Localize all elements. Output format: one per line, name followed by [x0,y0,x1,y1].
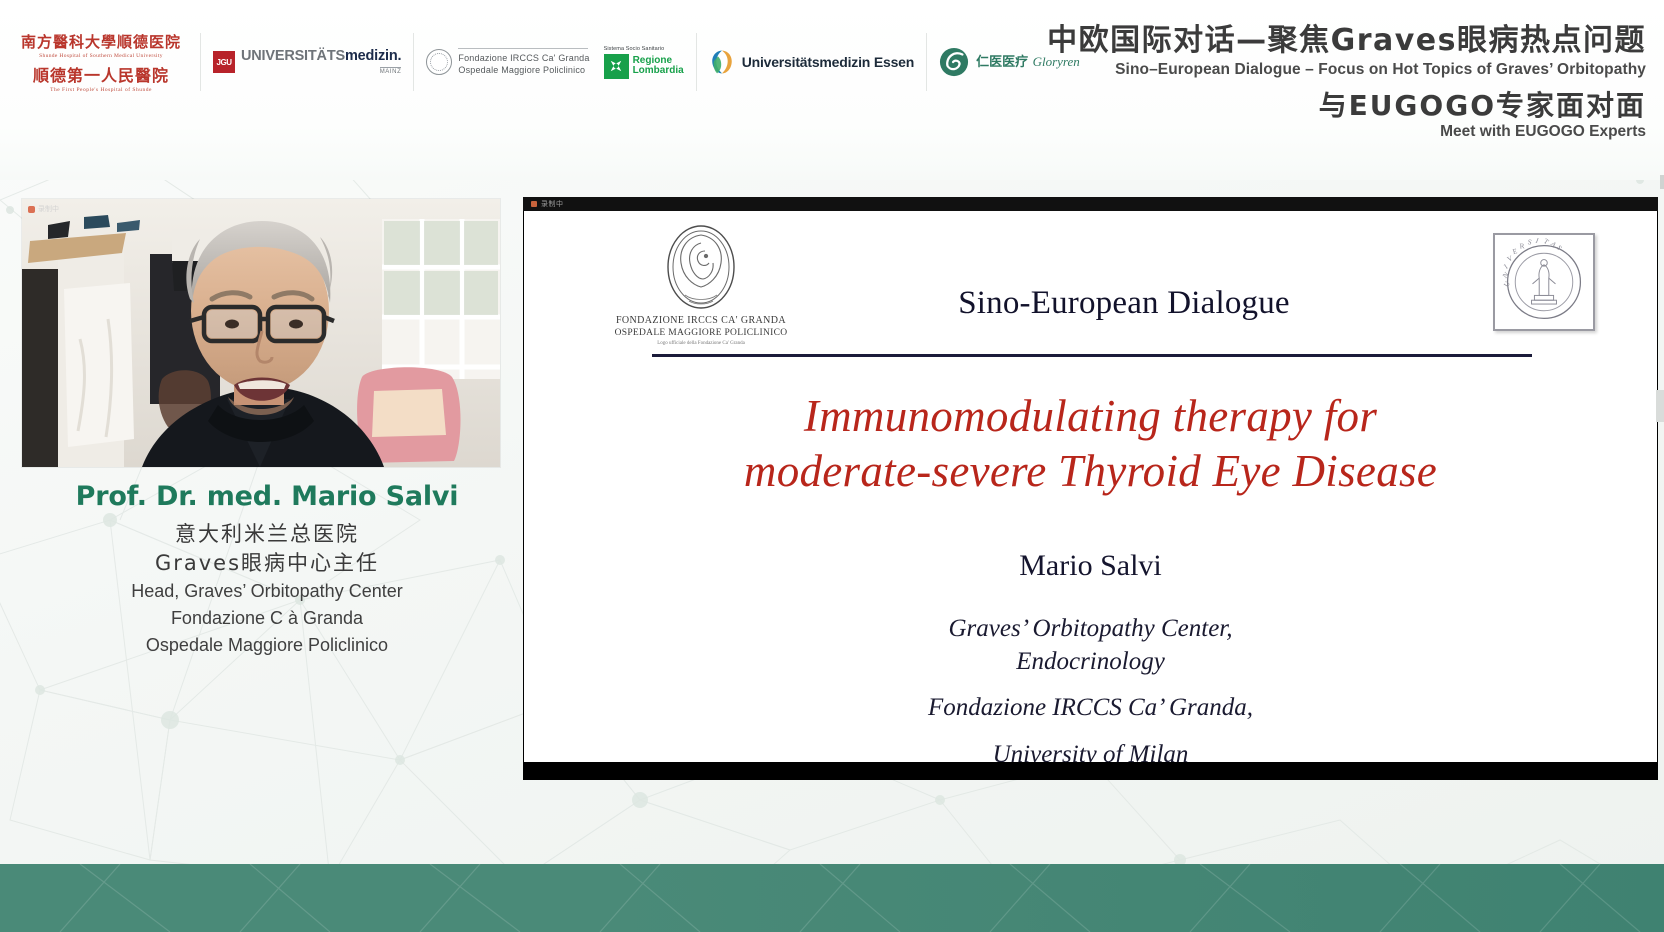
slide-affiliation: Graves’ Orbitopathy Center, Endocrinolog… [524,613,1657,762]
footer-polygon-decoration [0,864,1664,932]
slide-header-title: Sino-European Dialogue [824,285,1424,322]
event-title-en-sub: Meet with EUGOGO Experts [1047,123,1646,141]
slide-affiliation-line4: University of Milan [524,739,1657,763]
speaker-affiliation-en-1: Head, Graves’ Orbitopathy Center [22,579,512,604]
presentation-stage: 南方醫科大學順德医院 Shunde Hospital of Southern M… [0,0,1664,932]
slide-logo-university-of-milan: U N I V E R S I T A S [1493,233,1595,331]
speaker-info-block: Prof. Dr. med. Mario Salvi 意大利米兰总医院 Grav… [22,480,512,658]
logo-shunde-cn-line2: 順德第一人民醫院 [33,62,169,86]
recording-badge: 录制中 [28,204,59,214]
slide-affiliation-line2: Endocrinology [524,646,1657,679]
slide-header-row: FONDAZIONE IRCCS CA' GRANDA OSPEDALE MAG… [524,211,1657,347]
logo-shunde-en-line2: The First People's Hospital of Shunde [50,87,152,93]
shared-screen-window[interactable]: 录制中 [523,197,1658,780]
svg-text:R: R [1520,242,1526,250]
speaker-affiliation-en-2: Fondazione C à Granda [22,606,512,631]
recording-dot-icon [28,206,35,213]
logo-universitatsmedizin-mainz: JGU UNIVERSITÄTSmedizin. MAINZ [213,24,401,100]
svg-text:S: S [1527,238,1533,247]
logo-regione-lombardia: Sistema Socio Sanitario Regione Lombardi… [604,24,684,100]
essen-spiral-icon [709,49,735,75]
slide-main-title-line2: moderate-severe Thyroid Eye Disease [524,444,1657,499]
slide-logo-irccs: FONDAZIONE IRCCS CA' GRANDA OSPEDALE MAG… [586,223,816,346]
right-edge-artifact [1656,390,1664,422]
event-title-block: 中欧国际对话—聚焦Graves眼病热点问题 Sino–European Dial… [1047,24,1646,141]
slide-irccs-line1: FONDAZIONE IRCCS CA' GRANDA [586,315,816,326]
jgu-mark-icon: JGU [213,51,235,73]
svg-text:N: N [1501,270,1511,280]
sponsor-logo-strip: 南方醫科大學順德医院 Shunde Hospital of Southern M… [22,24,1080,100]
slide-main-title-line1: Immunomodulating therapy for [524,389,1657,444]
speaker-webcam-image [22,199,500,467]
logo-mainz-sub: MAINZ [380,67,402,75]
speaker-video-tile[interactable]: 录制中 [22,199,500,467]
irccs-seal-icon [426,49,452,75]
page-header: 南方醫科大學順德医院 Shunde Hospital of Southern M… [0,0,1664,180]
event-title-cn-main: 中欧国际对话—聚焦Graves眼病热点问题 [1047,24,1646,58]
logo-gloryren-cn: 仁医医疗 [976,55,1028,70]
recording-label: 录制中 [38,204,59,214]
logo-regione-top: Sistema Socio Sanitario [604,46,665,52]
shared-window-bottom-bar [523,762,1658,780]
regione-lombardia-rose-icon [604,54,629,79]
logo-fondazione-irccs: Fondazione IRCCS Ca' Granda Ospedale Mag… [426,24,589,100]
share-recording-dot-icon [531,201,537,207]
speaker-name: Prof. Dr. med. Mario Salvi [22,480,512,514]
logo-divider [696,33,697,91]
logo-divider [926,33,927,91]
slide-affiliation-line1: Graves’ Orbitopathy Center, [524,613,1657,646]
slide-canvas: FONDAZIONE IRCCS CA' GRANDA OSPEDALE MAG… [524,211,1657,762]
logo-essen-wordmark: Universitätsmedizin Essen [742,54,914,70]
logo-shunde-hospital: 南方醫科大學順德医院 Shunde Hospital of Southern M… [22,24,188,100]
unimi-seal-icon: U N I V E R S I T A S [1496,236,1592,328]
logo-irccs-line1: Fondazione IRCCS Ca' Granda [458,53,589,64]
slide-main-title: Immunomodulating therapy for moderate-se… [524,389,1657,499]
svg-text:U: U [1502,279,1512,288]
logo-mainz-light: UNIVERSITÄTS [241,48,345,64]
slide-author-name: Mario Salvi [524,549,1657,583]
slide-irccs-line3: Logo ufficiale della Fondazione Ca' Gran… [586,341,816,346]
logo-irccs-line2: Ospedale Maggiore Policlinico [458,65,589,76]
page-footer-bar [0,864,1664,932]
logo-divider [200,33,201,91]
logo-universitatsmedizin-essen: Universitätsmedizin Essen [709,24,914,100]
gloryren-swirl-icon [939,47,969,77]
svg-text:E: E [1512,247,1519,256]
logo-mainz-bold: medizin. [345,48,401,64]
shared-window-titlebar: 录制中 [523,197,1658,211]
right-edge-artifact-small [1660,175,1664,189]
speaker-affiliation-cn-1: 意大利米兰总医院 [22,521,512,548]
logo-shunde-cn-line1: 南方醫科大學順德医院 [21,31,181,52]
irccs-rule [458,48,588,49]
logo-regione-line2: Lombardia [633,66,684,77]
logo-mainz-wordmark: UNIVERSITÄTSmedizin. [241,49,401,64]
svg-text:I: I [1534,237,1540,246]
speaker-affiliation-cn-2: Graves眼病中心主任 [22,550,512,577]
logo-divider [413,33,414,91]
speaker-affiliation-en-3: Ospedale Maggiore Policlinico [22,633,512,658]
slide-irccs-line2: OSPEDALE MAGGIORE POLICLINICO [586,328,816,338]
slide-affiliation-line3: Fondazione IRCCS Ca’ Granda, [524,692,1657,725]
event-title-cn-sub: 与EUGOGO专家面对面 [1047,90,1646,121]
event-title-en-main: Sino–European Dialogue – Focus on Hot To… [1047,61,1646,79]
logo-shunde-en-line1: Shunde Hospital of Southern Medical Univ… [39,53,163,59]
slide-header-rule [652,354,1532,357]
share-window-label: 录制中 [541,199,564,209]
irccs-biscione-seal-icon [665,223,737,311]
